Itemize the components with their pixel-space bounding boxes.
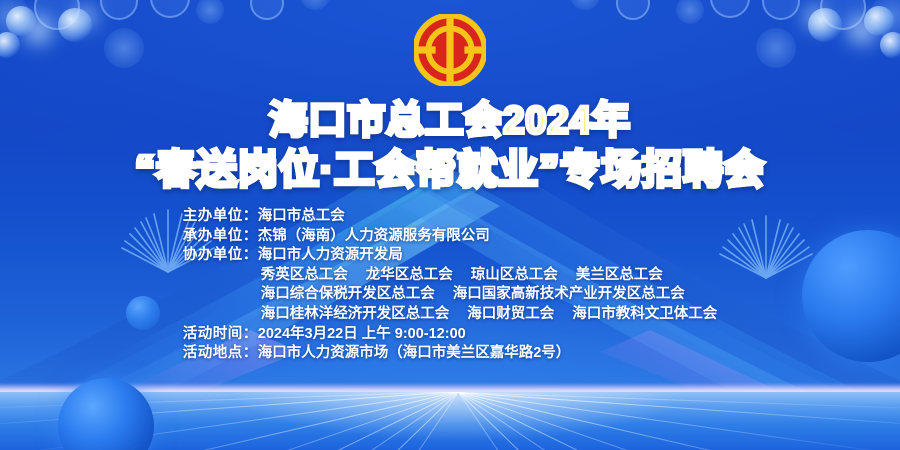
bokeh-circle [100, 0, 138, 20]
undertaker-label: 承办单位： [183, 228, 258, 244]
info-row-coorganizer: 协办单位：海口市人力资源开发局 [183, 246, 718, 266]
decorative-sphere [58, 378, 154, 450]
info-row-undertaker: 承办单位：杰锦（海南）人力资源服务有限公司 [183, 227, 718, 247]
light-streak [313, 392, 459, 450]
coorganizer-label: 协办单位： [183, 247, 258, 263]
coorganizer-item: 海口财贸工会 [467, 306, 554, 322]
info-row-place: 活动地点：海口市人力资源市场（海口市美兰区嘉华路2号） [183, 344, 718, 364]
place-value: 海口市人力资源市场（海口市美兰区嘉华路2号） [258, 345, 571, 361]
light-streak [458, 392, 604, 450]
bokeh-glow [18, 10, 58, 50]
light-streak [250, 392, 459, 450]
light-streak [458, 392, 724, 450]
perspective-ground [0, 392, 900, 450]
coorganizer-extra-row: 秀英区总工会龙华区总工会琼山区总工会美兰区总工会 [183, 266, 718, 286]
recruitment-fair-poster: 海口市总工会2024年 “春送岗位·工会帮就业”专场招聘会 主办单位：海口市总工… [0, 0, 900, 450]
light-streak [459, 392, 900, 413]
coorganizer-item: 秀英区总工会 [261, 267, 348, 283]
light-streak [0, 392, 459, 428]
event-info-block: 主办单位：海口市总工会 承办单位：杰锦（海南）人力资源服务有限公司 协办单位：海… [0, 207, 900, 364]
time-value: 2024年3月22日 上午 9:00-12:00 [258, 326, 466, 342]
light-streak [0, 392, 459, 450]
light-streak [40, 392, 459, 450]
bokeh-circle [150, 0, 190, 18]
title-line-2: “春送岗位·工会帮就业”专场招聘会 [0, 146, 900, 195]
bokeh-circle [0, 0, 30, 38]
light-streak [458, 392, 667, 450]
title-line-1: 海口市总工会2024年 [0, 98, 900, 144]
organizer-label: 主办单位： [183, 208, 258, 224]
coorganizer-item: 美兰区总工会 [576, 267, 663, 283]
bokeh-circle [880, 32, 900, 58]
bokeh-circle [104, 28, 144, 68]
light-streak [0, 392, 459, 412]
bokeh-circle [676, 0, 704, 24]
coorganizer-extra-row: 海口综合保税开发区总工会海口国家高新技术产业开发区总工会 [183, 285, 718, 305]
bokeh-circle [820, 0, 866, 30]
bokeh-circle [196, 0, 224, 24]
coorganizer-item: 海口市教科文卫体工会 [572, 306, 717, 322]
info-row-time: 活动时间：2024年3月22日 上午 9:00-12:00 [183, 325, 718, 345]
coorganizer-value: 海口市人力资源开发局 [258, 247, 403, 263]
light-streak [459, 392, 828, 450]
bokeh-glow [842, 10, 882, 50]
coorganizer-item: 海口桂林洋经济开发区总工会 [261, 306, 450, 322]
acftu-emblem [414, 14, 486, 86]
bokeh-circle [616, 0, 650, 20]
bokeh-circle [34, 0, 80, 30]
coorganizer-item: 龙华区总工会 [366, 267, 453, 283]
coorganizer-item: 琼山区总工会 [471, 267, 558, 283]
bokeh-circle [756, 28, 796, 68]
horizon-band [0, 383, 900, 399]
bokeh-circle [250, 0, 284, 20]
time-label: 活动时间： [183, 326, 258, 342]
coorganizer-item: 海口国家高新技术产业开发区总工会 [453, 286, 685, 302]
info-row-organizer: 主办单位：海口市总工会 [183, 207, 718, 227]
union-emblem-icon [414, 14, 486, 86]
poster-title: 海口市总工会2024年 “春送岗位·工会帮就业”专场招聘会 [0, 98, 900, 195]
bokeh-circle [864, 6, 894, 36]
light-streak [193, 392, 459, 450]
place-label: 活动地点： [183, 345, 258, 361]
light-streak [459, 392, 774, 450]
light-streak [90, 392, 459, 450]
bokeh-circle [58, 8, 92, 42]
light-streak [459, 392, 900, 429]
light-streak [459, 392, 878, 450]
bokeh-circle [570, 0, 600, 10]
bokeh-circle [870, 0, 900, 38]
light-streak [459, 392, 900, 450]
bokeh-circle [710, 0, 750, 18]
undertaker-value: 杰锦（海南）人力资源服务有限公司 [258, 228, 490, 244]
bokeh-circle [300, 0, 330, 10]
organizer-value: 海口市总工会 [258, 208, 345, 224]
coorganizer-extra-row: 海口桂林洋经济开发区总工会海口财贸工会海口市教科文卫体工会 [183, 305, 718, 325]
bokeh-glow [70, 2, 100, 32]
bokeh-circle [762, 0, 800, 20]
coorganizer-item: 海口综合保税开发区总工会 [261, 286, 435, 302]
bokeh-glow [800, 2, 830, 32]
bokeh-circle [0, 32, 20, 58]
bokeh-circle [6, 6, 36, 36]
bokeh-circle [808, 8, 842, 42]
light-streak [144, 392, 459, 450]
